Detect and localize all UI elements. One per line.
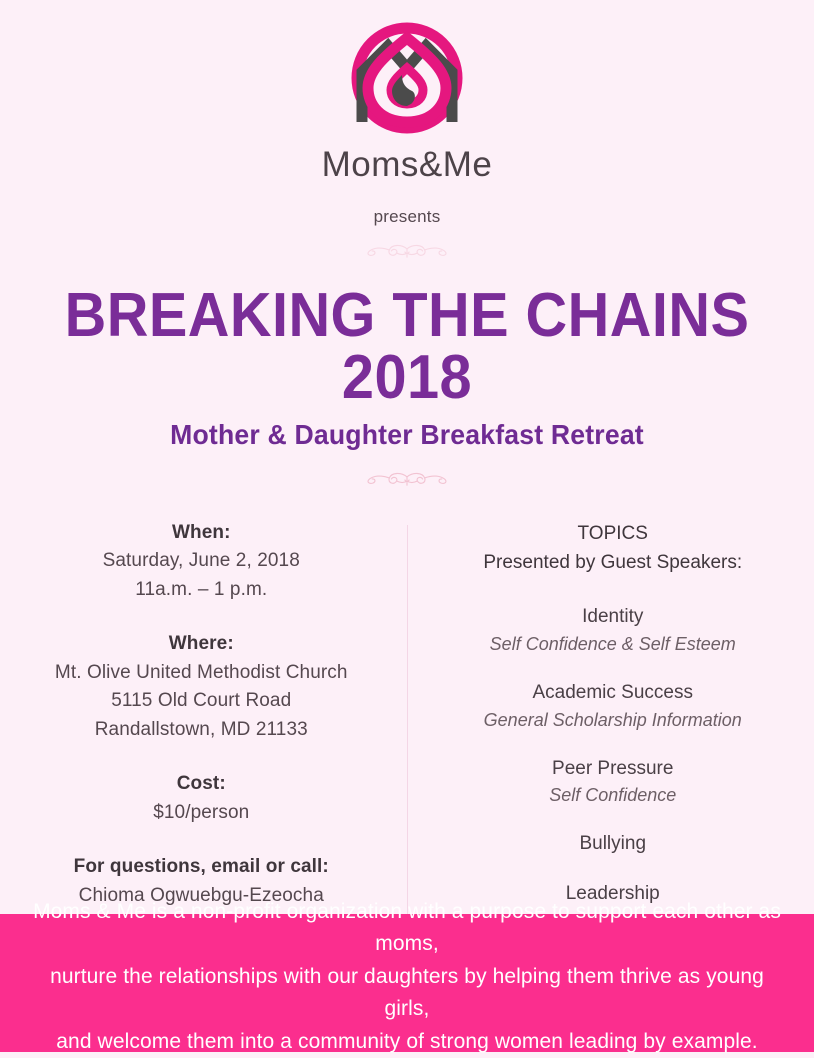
- when-group: When: Saturday, June 2, 2018 11a.m. – 1 …: [14, 519, 389, 605]
- flourish-divider-ornament-bottom: [355, 467, 459, 493]
- presents-label: presents: [0, 207, 814, 227]
- when-date: Saturday, June 2, 2018: [14, 547, 389, 576]
- when-time: 11a.m. – 1 p.m.: [14, 576, 389, 605]
- topic-item: Bullying: [426, 830, 801, 858]
- spacer: [14, 744, 389, 770]
- brand-header: Moms&Me: [0, 0, 814, 185]
- topic-name: Identity: [426, 603, 801, 631]
- topic-name: Peer Pressure: [426, 755, 801, 783]
- where-label: Where:: [14, 630, 389, 659]
- flourish-divider-ornament-top: [355, 239, 459, 265]
- mission-statement: Moms & Me is a non-profit organization w…: [0, 896, 814, 1058]
- mission-line-1: Moms & Me is a non-profit organization w…: [30, 896, 784, 961]
- topic-subtitle: Self Confidence & Self Esteem: [426, 631, 801, 657]
- page-subtitle: Mother & Daughter Breakfast Retreat: [20, 419, 793, 451]
- contact-label: For questions, email or call:: [14, 853, 389, 882]
- topic-name: Bullying: [426, 830, 801, 858]
- topic-item: Academic Success General Scholarship Inf…: [426, 679, 801, 733]
- spacer: [426, 577, 801, 603]
- moms-and-me-flame-circle-logo-icon: [344, 18, 470, 144]
- cost-label: Cost:: [14, 770, 389, 799]
- when-label: When:: [14, 519, 389, 548]
- mission-line-2: nurture the relationships with our daugh…: [30, 961, 784, 1026]
- where-line-3: Randallstown, MD 21133: [14, 716, 389, 745]
- topic-subtitle: General Scholarship Information: [426, 707, 801, 733]
- flyer-poster: Moms&Me presents BREAKING THE CHAINS 201…: [0, 0, 814, 1052]
- spacer: [14, 827, 389, 853]
- cost-group: Cost: $10/person: [14, 770, 389, 827]
- topics-heading: TOPICS: [426, 519, 801, 548]
- topic-subtitle: Self Confidence: [426, 782, 801, 808]
- where-line-2: 5115 Old Court Road: [14, 687, 389, 716]
- mission-line-3: and welcome them into a community of str…: [30, 1026, 784, 1058]
- topic-name: Academic Success: [426, 679, 801, 707]
- mission-footer-band: Moms & Me is a non-profit organization w…: [0, 914, 814, 1052]
- brand-wordmark: Moms&Me: [0, 146, 814, 185]
- topics-subheading: Presented by Guest Speakers:: [426, 548, 801, 577]
- where-line-1: Mt. Olive United Methodist Church: [14, 659, 389, 688]
- where-group: Where: Mt. Olive United Methodist Church…: [14, 630, 389, 744]
- spacer: [14, 604, 389, 630]
- topic-item: Identity Self Confidence & Self Esteem: [426, 603, 801, 657]
- topic-item: Peer Pressure Self Confidence: [426, 755, 801, 809]
- cost-value: $10/person: [14, 799, 389, 828]
- page-title: BREAKING THE CHAINS 2018: [28, 285, 785, 409]
